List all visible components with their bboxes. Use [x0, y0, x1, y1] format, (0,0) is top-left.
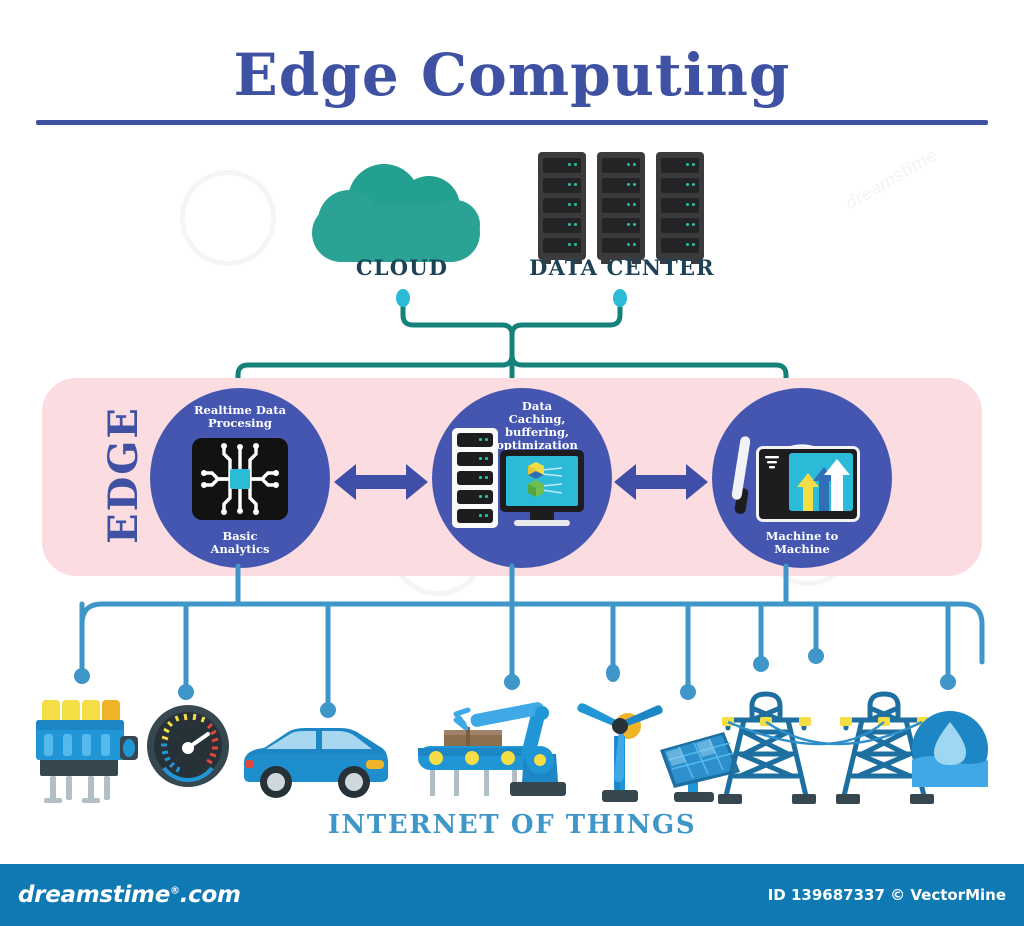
server-rack-icon: [538, 152, 704, 262]
monitor-base: [514, 520, 570, 526]
bidirectional-arrow-right: [614, 458, 708, 506]
iot-section-label: INTERNET OF THINGS: [0, 810, 1024, 840]
conveyor-belt-icon: [414, 680, 582, 806]
edge-node-machine-to-machine[interactable]: Machine to Machine: [712, 388, 892, 568]
image-credit: ID 139687337 © VectorMine: [768, 886, 1006, 904]
power-lines: [714, 684, 944, 784]
watermark-ring: [180, 170, 276, 266]
cloud-label: CLOUD: [292, 255, 512, 280]
edge-node-data-caching[interactable]: Data Caching, buffering, optimization: [432, 388, 612, 568]
server-rack-icon: [452, 428, 498, 528]
dreamstime-tld: .com: [180, 882, 241, 908]
registered-mark: ®: [170, 885, 180, 896]
page-title: Edge Computing: [0, 44, 1024, 106]
car-icon: [236, 720, 392, 800]
datacenter-label: DATA CENTER: [500, 255, 744, 280]
pressure-gauge-icon: [146, 702, 230, 790]
node-caption-bottom: Basic Analytics: [165, 530, 315, 556]
wire-endpoint-dot: [396, 289, 410, 307]
dreamstime-brand: dreamstime: [18, 882, 170, 908]
dreamstime-logo: dreamstime®.com: [18, 882, 241, 908]
bidirectional-arrow-left: [334, 458, 428, 506]
node-caption-top: Realtime Data Procesing: [165, 404, 315, 430]
wireless-tablet-icon: [756, 446, 860, 522]
wire-endpoint-dot: [613, 289, 627, 307]
microchip-icon: [192, 438, 288, 520]
edge-node-realtime-data-processing[interactable]: Realtime Data Procesing: [150, 388, 330, 568]
water-drop-icon: [912, 710, 988, 788]
node-caption-bottom: Machine to Machine: [727, 530, 877, 556]
footer-bar: dreamstime®.com ID 139687337 © VectorMin…: [0, 864, 1024, 926]
monitor-icon: [500, 450, 584, 512]
signal-bars-icon: [764, 455, 782, 471]
iot-device-row: [0, 660, 1024, 805]
engine-icon: [22, 690, 144, 806]
watermark-text: dreamstime: [842, 146, 941, 215]
title-divider: [36, 120, 988, 125]
